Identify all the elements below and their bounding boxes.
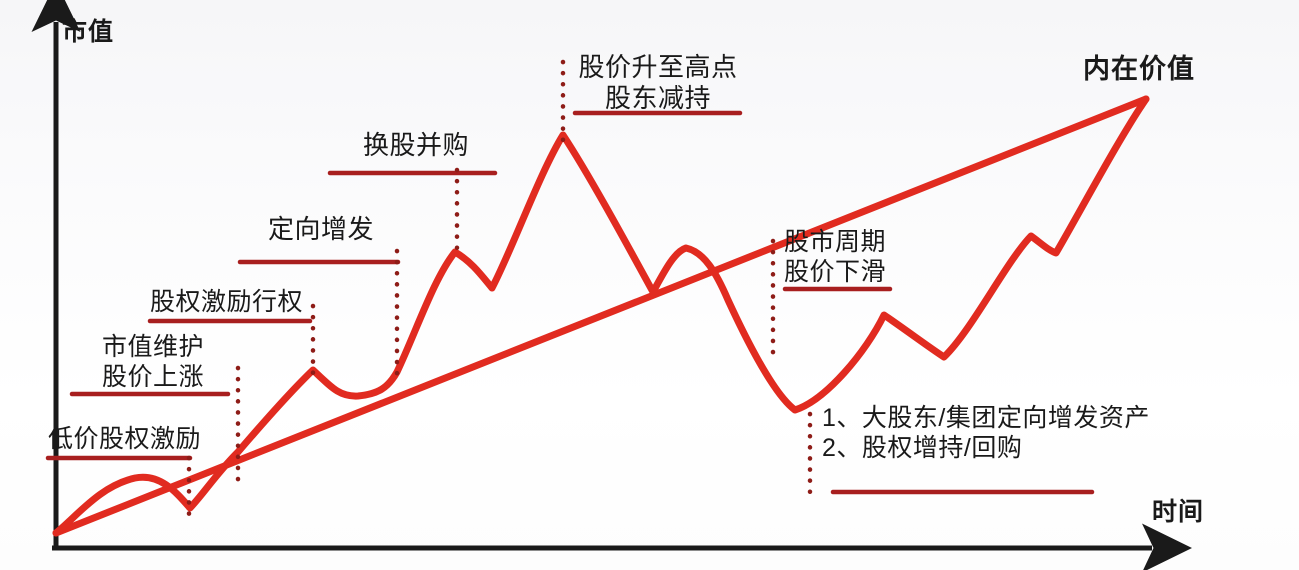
recovery-measures-label: 1、大股东/集团定向增发资产 2、股权增持/回购 (822, 404, 1150, 463)
market-value-maintenance-line2: 股价上涨 (86, 363, 220, 393)
market-cycle-line1: 股市周期 (784, 228, 886, 258)
price-peak-line2: 股东减持 (576, 83, 740, 114)
private-placement-label: 定向增发 (268, 214, 374, 245)
x-axis-label: 时间 (1152, 498, 1204, 528)
equity-incentive-exercise-label: 股权激励行权 (150, 288, 303, 318)
intrinsic-value-label: 内在价值 (1083, 54, 1195, 86)
market-cycle-line2: 股价下滑 (784, 258, 886, 288)
market-value-maintenance-label: 市值维护 股价上涨 (86, 333, 220, 392)
share-swap-merger-label: 换股并购 (363, 130, 469, 161)
recovery-item-1: 1、大股东/集团定向增发资产 (822, 404, 1150, 434)
price-peak-shareholder-reduction-label: 股价升至高点 股东减持 (576, 52, 740, 113)
low-price-equity-incentive-label: 低价股权激励 (48, 425, 201, 455)
y-axis-label: 市值 (62, 18, 114, 48)
price-peak-line1: 股价升至高点 (576, 52, 740, 83)
market-cycle-price-decline-label: 股市周期 股价下滑 (784, 228, 886, 287)
chart-canvas: 市值 时间 内在价值 低价股权激励 市值维护 股价上涨 股权激励行权 定向增发 … (0, 0, 1299, 570)
market-value-maintenance-line1: 市值维护 (86, 333, 220, 363)
recovery-item-2: 2、股权增持/回购 (822, 434, 1150, 464)
